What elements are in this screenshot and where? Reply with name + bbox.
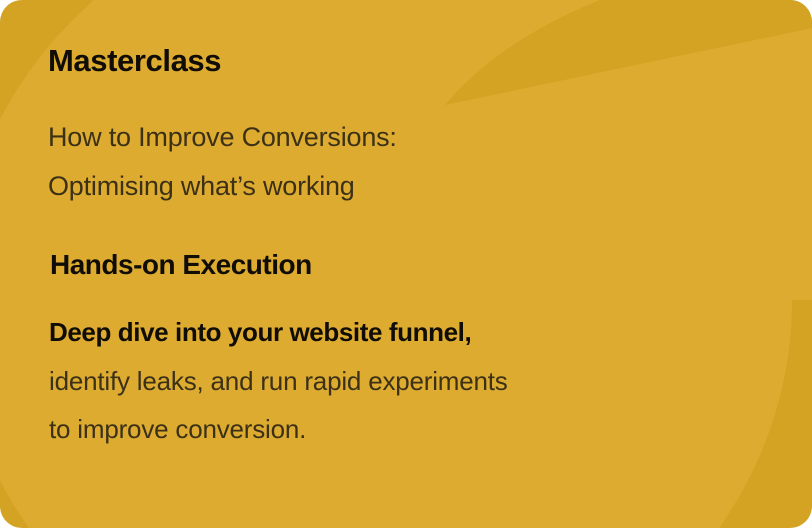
masterclass-card: Masterclass How to Improve Conversions: …	[0, 0, 812, 528]
card-eyebrow: Masterclass	[48, 44, 772, 77]
card-subtitle: How to Improve Conversions: Optimising w…	[48, 113, 772, 209]
card-body-copy: Deep dive into your website funnel, iden…	[49, 308, 772, 453]
card-content: Masterclass How to Improve Conversions: …	[0, 0, 812, 528]
section-heading: Hands-on Execution	[50, 250, 772, 281]
body-copy-line-2: identify leaks, and run rapid experiment…	[49, 357, 772, 405]
card-subtitle-line-1: How to Improve Conversions:	[48, 113, 772, 161]
body-copy-line-3: to improve conversion.	[49, 405, 772, 453]
card-subtitle-line-2: Optimising what’s working	[48, 162, 772, 210]
body-copy-line-1: Deep dive into your website funnel,	[49, 308, 772, 356]
